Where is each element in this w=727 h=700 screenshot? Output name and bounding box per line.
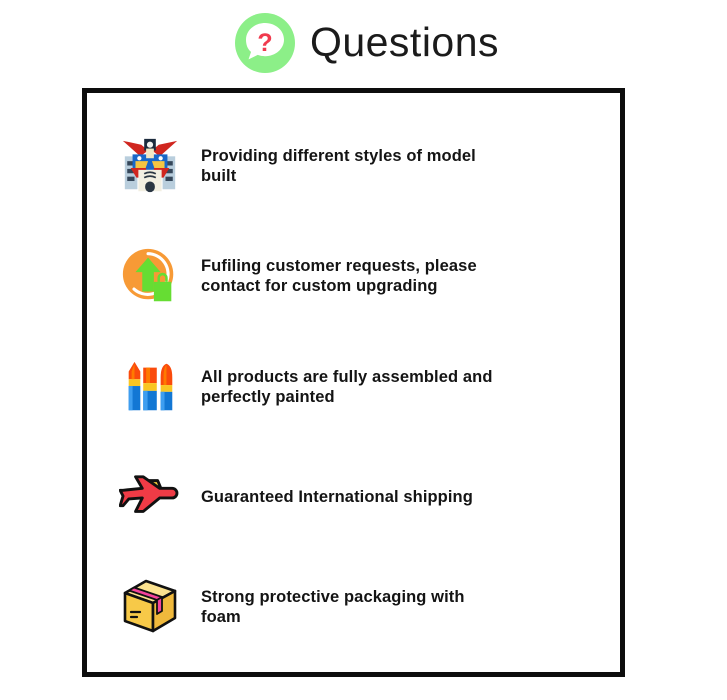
list-item-label: All products are fully assembled and per… xyxy=(201,367,501,407)
upgrade-arrow-shopping-bag-icon xyxy=(117,243,183,309)
questions-panel: Providing different styles of model buil… xyxy=(82,88,625,677)
list-item: Fufiling customer requests, please conta… xyxy=(117,221,602,331)
airplane-icon xyxy=(117,464,183,530)
list-item-label: Providing different styles of model buil… xyxy=(201,146,501,186)
list-item-label: Guaranteed International shipping xyxy=(201,487,473,507)
list-item-label: Fufiling customer requests, please conta… xyxy=(201,256,501,296)
list-item: Guaranteed International shipping xyxy=(117,442,602,552)
page-title: Questions xyxy=(310,22,499,63)
list-item-label: Strong protective packaging with foam xyxy=(201,587,501,627)
svg-text:?: ? xyxy=(257,29,272,57)
paint-brushes-icon xyxy=(117,354,183,420)
gundam-robot-head-icon xyxy=(117,133,183,199)
list-item: Strong protective packaging with foam xyxy=(117,552,602,662)
list-item: All products are fully assembled and per… xyxy=(117,331,602,441)
question-speech-bubble-icon: ? xyxy=(234,12,296,74)
questions-list: Providing different styles of model buil… xyxy=(87,93,620,672)
page-header: ? Questions xyxy=(0,0,727,86)
list-item: Providing different styles of model buil… xyxy=(117,111,602,221)
cardboard-box-icon xyxy=(117,574,183,640)
